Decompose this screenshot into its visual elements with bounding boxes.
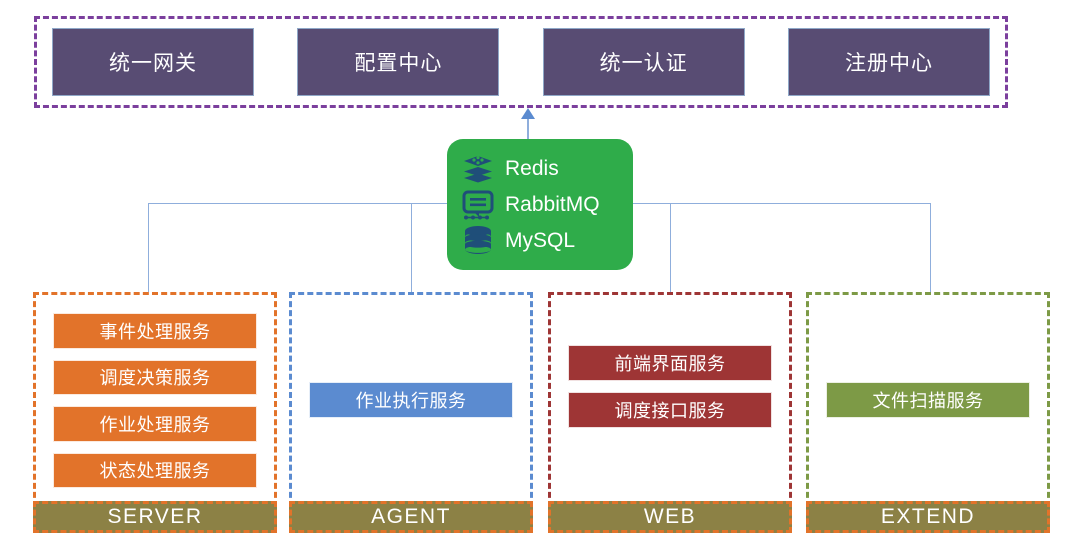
service-box[interactable]: 前端界面服务 (568, 345, 772, 381)
platform-box-label: 统一认证 (600, 47, 688, 77)
infra-item-label: Redis (505, 158, 559, 179)
service-label: 前端界面服务 (615, 350, 726, 376)
service-label: 调度决策服务 (100, 364, 211, 390)
platform-box-unified-auth[interactable]: 统一认证 (543, 28, 745, 96)
platform-box-unified-gateway[interactable]: 统一网关 (52, 28, 254, 96)
platform-box-label: 注册中心 (845, 47, 933, 77)
column-footer-label: EXTEND (881, 505, 975, 529)
service-box[interactable]: 文件扫描服务 (826, 382, 1030, 418)
column-agent-services: 作业执行服务 (292, 295, 530, 504)
column-extend: 文件扫描服务 (806, 292, 1050, 507)
service-label: 状态处理服务 (100, 457, 211, 483)
service-box[interactable]: 作业执行服务 (309, 382, 513, 418)
mysql-database-icon (461, 224, 495, 256)
column-server: 事件处理服务 调度决策服务 作业处理服务 状态处理服务 (33, 292, 277, 507)
infrastructure-box[interactable]: Redis RabbitMQ (447, 139, 633, 270)
platform-box-registry-center[interactable]: 注册中心 (788, 28, 990, 96)
column-web: 前端界面服务 调度接口服务 (548, 292, 792, 507)
connector-drop-extend (930, 203, 931, 295)
service-box[interactable]: 事件处理服务 (53, 313, 257, 349)
infra-item-label: RabbitMQ (505, 194, 600, 215)
service-label: 调度接口服务 (615, 397, 726, 423)
service-label: 文件扫描服务 (873, 387, 984, 413)
service-label: 事件处理服务 (100, 318, 211, 344)
column-web-services: 前端界面服务 调度接口服务 (551, 295, 789, 504)
platform-box-config-center[interactable]: 配置中心 (297, 28, 499, 96)
connector-drop-agent (411, 203, 412, 295)
infra-item-mysql[interactable]: MySQL (461, 222, 633, 258)
column-footer-web: WEB (548, 501, 792, 533)
column-server-services: 事件处理服务 调度决策服务 作业处理服务 状态处理服务 (36, 295, 274, 504)
infra-item-redis[interactable]: Redis (461, 151, 633, 187)
service-box[interactable]: 调度决策服务 (53, 360, 257, 396)
connector-trunk-left (148, 203, 448, 204)
rabbitmq-message-icon (461, 189, 495, 221)
service-box[interactable]: 作业处理服务 (53, 406, 257, 442)
column-footer-extend: EXTEND (806, 501, 1050, 533)
connector-trunk-right (632, 203, 931, 204)
redis-layers-icon (461, 153, 495, 185)
service-label: 作业处理服务 (100, 411, 211, 437)
infra-item-label: MySQL (505, 230, 575, 251)
service-box[interactable]: 调度接口服务 (568, 392, 772, 428)
column-footer-label: WEB (644, 505, 696, 529)
column-footer-label: AGENT (371, 505, 451, 529)
service-box[interactable]: 状态处理服务 (53, 453, 257, 489)
architecture-diagram: 统一网关 配置中心 统一认证 注册中心 (0, 0, 1080, 545)
connector-drop-web (670, 203, 671, 295)
infra-item-rabbitmq[interactable]: RabbitMQ (461, 187, 633, 223)
column-extend-services: 文件扫描服务 (809, 295, 1047, 504)
column-footer-label: SERVER (108, 505, 203, 529)
arrow-up-icon (521, 108, 535, 119)
column-footer-server: SERVER (33, 501, 277, 533)
column-footer-agent: AGENT (289, 501, 533, 533)
service-label: 作业执行服务 (356, 387, 467, 413)
platform-box-label: 配置中心 (354, 47, 442, 77)
connector-drop-server (148, 203, 149, 295)
platform-box-row: 统一网关 配置中心 统一认证 注册中心 (34, 16, 1008, 108)
column-agent: 作业执行服务 (289, 292, 533, 507)
platform-box-label: 统一网关 (109, 47, 197, 77)
